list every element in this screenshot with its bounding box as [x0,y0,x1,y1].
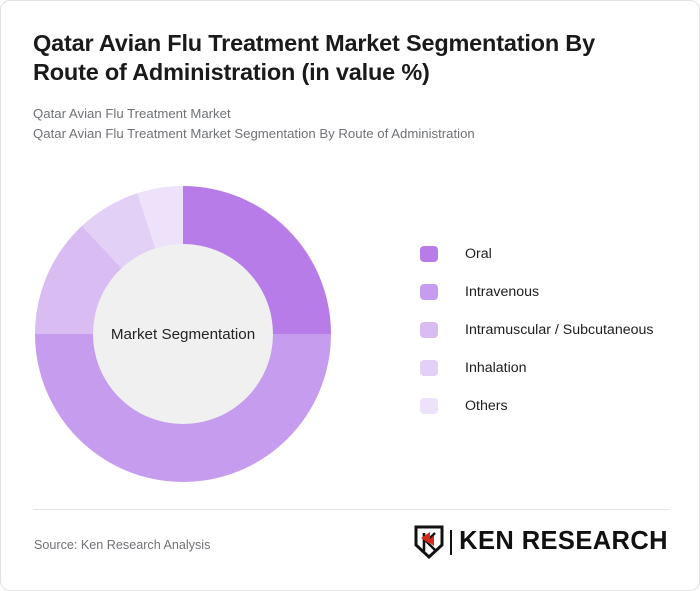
footer-divider [33,509,669,510]
subtitle-segmentation: Qatar Avian Flu Treatment Market Segment… [33,124,655,144]
legend-item[interactable]: Intramuscular / Subcutaneous [420,320,653,339]
brand-separator [450,530,452,555]
subtitle-market: Qatar Avian Flu Treatment Market [33,104,655,124]
legend-item[interactable]: Inhalation [420,359,653,378]
subtitle-group: Qatar Avian Flu Treatment Market Qatar A… [33,104,655,143]
legend-item-label: Inhalation [465,360,527,376]
legend-item-label: Oral [465,246,492,262]
brand-logo: KEN RESEARCH [414,525,668,559]
legend-swatch-icon [420,322,438,338]
brand-accent-triangle-icon [421,532,430,544]
legend-swatch-icon [420,398,438,414]
legend-swatch-icon [420,246,438,262]
donut-chart: Market Segmentation [35,186,331,482]
legend-item-label: Others [465,398,508,414]
chart-header: Qatar Avian Flu Treatment Market Segment… [33,29,655,143]
donut-hole: Market Segmentation [93,244,273,424]
source-note: Source: Ken Research Analysis [34,538,210,552]
legend-item[interactable]: Oral [420,244,653,263]
chart-card: Qatar Avian Flu Treatment Market Segment… [0,0,700,591]
chart-legend: OralIntravenousIntramuscular / Subcutane… [420,244,653,435]
brand-name: KEN RESEARCH [459,529,668,555]
page-title: Qatar Avian Flu Treatment Market Segment… [33,29,655,87]
legend-item-label: Intramuscular / Subcutaneous [465,322,653,338]
donut-center-label: Market Segmentation [111,326,255,343]
legend-swatch-icon [420,360,438,376]
legend-swatch-icon [420,284,438,300]
legend-item-label: Intravenous [465,284,539,300]
legend-item[interactable]: Intravenous [420,282,653,301]
legend-item[interactable]: Others [420,397,653,416]
